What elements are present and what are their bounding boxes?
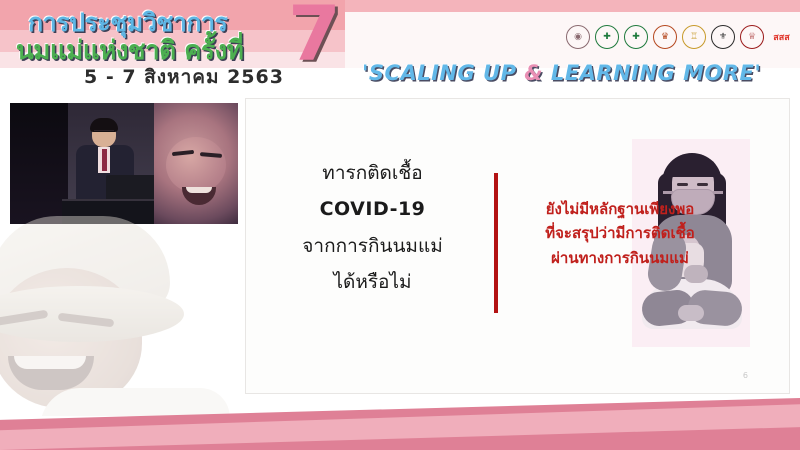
- logo-glyph-6: ⚜: [719, 32, 727, 42]
- logo-glyph-4: ♛: [661, 32, 669, 42]
- smiling-child-watermark-photo: [0, 216, 242, 416]
- question-line-3: จากการกินนมแม่: [270, 228, 475, 264]
- slide-page-number: 6: [743, 371, 748, 380]
- header-right-pink-strip: [345, 0, 800, 12]
- logo-medical-council-icon: ♕: [740, 25, 764, 49]
- logo-glyph-7: ♕: [748, 32, 756, 42]
- speaker-glasses-icon: [94, 130, 114, 135]
- speaker-tie: [102, 149, 107, 171]
- mother-bangs: [668, 157, 718, 177]
- mother-foot: [678, 305, 704, 321]
- baby-cheek: [166, 137, 226, 193]
- mask-strap-left: [663, 191, 673, 194]
- logo-breastfeeding-foundation-icon: ◉: [566, 25, 590, 49]
- logo-ministry-public-health-icon: ✚: [595, 25, 619, 49]
- question-line-2: COVID-19: [270, 191, 475, 227]
- slide-question-text: ทารกติดเชื้อ COVID-19 จากการกินนมแม่ ได้…: [270, 155, 475, 301]
- logo-glyph-3: ✚: [632, 32, 640, 42]
- podium-laptop: [106, 175, 156, 201]
- slide-answer-text: ยังไม่มีหลักฐานเพียงพอ ที่จะสรุปว่ามีการ…: [504, 197, 736, 270]
- conference-date: 5 - 7 สิงหาคม 2563: [84, 62, 284, 92]
- logo-glyph-5: ♖: [690, 32, 698, 42]
- sponsor-logo-row: ◉ ✚ ✚ ♛ ♖ ⚜ ♕ สสส: [566, 22, 794, 52]
- slide-red-divider: [494, 173, 498, 313]
- answer-line-3: ผ่านทางการกินนมแม่: [504, 246, 736, 270]
- tagline-part-1: 'SCALING UP: [362, 61, 524, 85]
- presentation-slide-panel: ทารกติดเชื้อ COVID-19 จากการกินนมแม่ ได้…: [245, 98, 790, 394]
- tagline-part-2: LEARNING MORE': [543, 61, 761, 85]
- child-teeth: [14, 356, 86, 369]
- mother-eye-left: [677, 183, 688, 186]
- question-line-1: ทารกติดเชื้อ: [270, 155, 475, 191]
- logo-department-health-icon: ✚: [624, 25, 648, 49]
- conference-edition-number: 7: [288, 0, 341, 72]
- video-dark-panel: [10, 103, 70, 224]
- mask-strap-right: [713, 191, 723, 194]
- logo-glyph-1: ◉: [574, 32, 582, 42]
- logo-glyph-2: ✚: [603, 32, 611, 42]
- logo-royal-college-pediatricians-icon: ♛: [653, 25, 677, 49]
- question-line-4: ได้หรือไม่: [270, 264, 475, 300]
- logo-royal-emblem-icon: ♖: [682, 25, 706, 49]
- answer-line-1: ยังไม่มีหลักฐานเพียงพอ: [504, 197, 736, 221]
- logo-nursing-council-icon: ⚜: [711, 25, 735, 49]
- answer-line-2: ที่จะสรุปว่ามีการติดเชื้อ: [504, 221, 736, 245]
- tagline-ampersand: &: [524, 61, 543, 85]
- mother-eye-right: [697, 183, 708, 186]
- baby-teeth: [186, 187, 212, 193]
- logo-thaihealth-sss: สสส: [769, 26, 794, 48]
- conference-speaker-video-thumbnail[interactable]: [10, 103, 238, 224]
- baby-face-overlay: [154, 103, 238, 224]
- bottom-pink-decorative-band: [0, 398, 800, 450]
- conference-tagline: 'SCALING UP & LEARNING MORE': [362, 61, 761, 85]
- conference-header-banner: การประชุมวิชาการ นมแม่แห่งชาติ ครั้งที่ …: [0, 0, 800, 98]
- slide-screenshot: การประชุมวิชาการ นมแม่แห่งชาติ ครั้งที่ …: [0, 0, 800, 450]
